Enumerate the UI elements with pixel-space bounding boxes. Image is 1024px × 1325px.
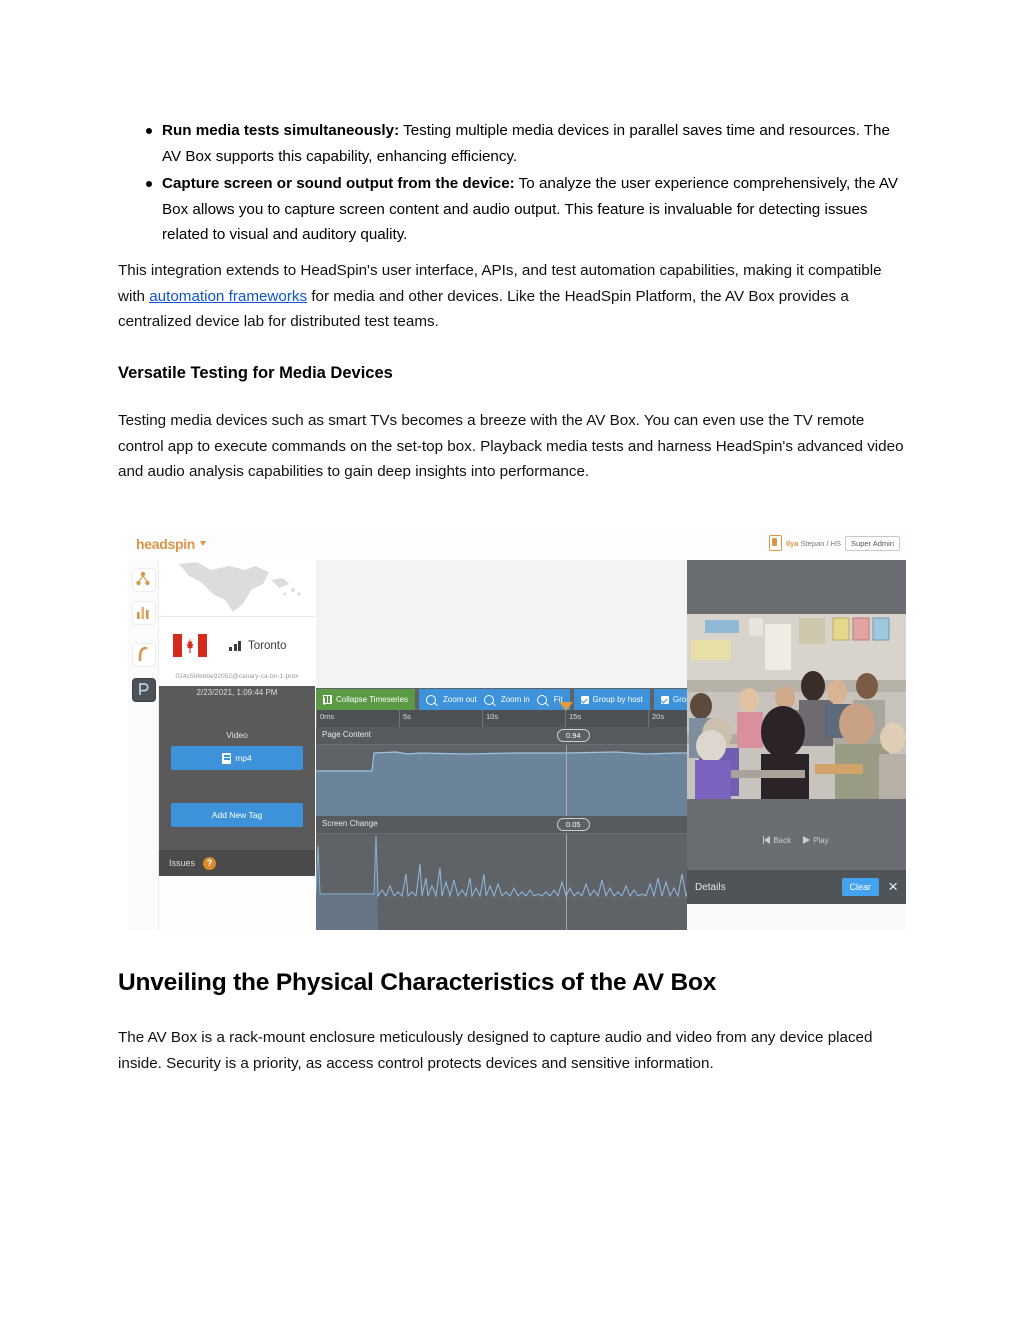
details-bar: Details Clear × [687, 870, 906, 904]
back-label: Back [773, 836, 791, 845]
video-frame[interactable] [687, 614, 906, 799]
page-title: Unveiling the Physical Characteristics o… [118, 968, 908, 998]
performance-icon[interactable] [132, 678, 156, 702]
sidebar-footer [159, 876, 315, 930]
user-avatar-icon [769, 535, 782, 551]
waterfall-icon[interactable] [132, 643, 156, 667]
timeline-cursor [566, 745, 567, 817]
video-controls: Back Play [687, 830, 906, 850]
play-label: Play [813, 836, 829, 845]
bullet-lead: Run media tests simultaneously: [162, 122, 399, 139]
maple-leaf-icon [186, 638, 194, 653]
device-sidebar: Toronto 024c5bfebbe92052@canary-ca-tor-1… [159, 560, 315, 930]
axis-tick: 20s [648, 710, 664, 727]
paragraph-three: The AV Box is a rack-mount enclosure met… [118, 1025, 908, 1076]
session-timestamp: 2/23/2021, 1:09:44 PM [159, 688, 315, 697]
playhead-marker-icon[interactable] [559, 702, 573, 711]
axis-tick: 0ms [316, 710, 334, 727]
paragraph-one-wrap: This integration extends to HeadSpin's u… [118, 258, 908, 335]
user-area[interactable]: Ilya Stepan / HS Super Admin [769, 535, 900, 551]
icon-rail [128, 560, 159, 930]
track-value-pill: 0.05 [557, 818, 590, 831]
clear-button[interactable]: Clear [842, 878, 880, 896]
video-panel: Back Play Details Clear × [813, 560, 906, 930]
headspin-logo[interactable]: headspin [136, 536, 195, 552]
axis-tick: 5s [399, 710, 411, 727]
video-section-label: Video [159, 730, 315, 740]
checkbox-icon [661, 696, 669, 704]
skip-back-icon [764, 836, 770, 844]
track-name: Page Content [322, 730, 371, 739]
track-value-pill: 0.94 [557, 729, 590, 742]
back-button[interactable]: Back [764, 836, 791, 845]
bullet-list-section: Run media tests simultaneously: Testing … [118, 118, 908, 250]
warning-badge-icon: ? [203, 857, 216, 870]
add-new-tag-button[interactable]: Add New Tag [171, 803, 303, 827]
device-id-label: 024c5bfebbe92052@canary-ca-tor-1-prox [159, 668, 315, 686]
issues-row[interactable]: Issues ? [159, 850, 315, 876]
subheading-wrap: Versatile Testing for Media Devices [118, 362, 908, 384]
magnifier-fit-icon [537, 695, 547, 705]
play-icon [803, 836, 810, 844]
zoom-group[interactable]: Zoom out Zoom in Fit [419, 689, 570, 710]
file-download-icon [222, 753, 231, 764]
magnifier-plus-icon [484, 695, 494, 705]
zoom-in-label: Zoom in [501, 695, 530, 704]
download-mp4-button[interactable]: mp4 [171, 746, 303, 770]
magnifier-minus-icon [426, 695, 436, 705]
city-label: Toronto [248, 640, 286, 652]
paragraph-three-wrap: The AV Box is a rack-mount enclosure met… [118, 1025, 908, 1076]
document-page: Run media tests simultaneously: Testing … [0, 0, 1024, 1325]
video-player: Back Play Details Clear × [687, 560, 906, 930]
checkbox-icon [581, 696, 589, 704]
bar-chart-icon[interactable] [132, 601, 156, 625]
collapse-timeseries-label: Collapse Timeseries [336, 695, 408, 704]
grid-icon [323, 695, 332, 704]
chevron-down-icon[interactable] [200, 541, 206, 546]
location-map[interactable] [159, 560, 315, 617]
paragraph-one: This integration extends to HeadSpin's u… [118, 258, 908, 335]
bullet-lead: Capture screen or sound output from the … [162, 175, 515, 192]
role-badge[interactable]: Super Admin [845, 536, 900, 551]
paragraph-two-wrap: Testing media devices such as smart TVs … [118, 408, 908, 485]
zoom-out-label: Zoom out [443, 695, 477, 704]
close-icon[interactable]: × [888, 880, 898, 894]
bullet-list: Run media tests simultaneously: Testing … [118, 118, 908, 248]
subheading: Versatile Testing for Media Devices [118, 362, 908, 384]
collapse-timeseries-button[interactable]: Collapse Timeseries [316, 689, 415, 710]
app-topbar: headspin Ilya Stepan / HS Super Admin [128, 530, 906, 561]
timeline-cursor [566, 834, 567, 930]
user-name-label: Ilya Stepan / HS [786, 539, 841, 548]
issues-label: Issues [169, 858, 195, 868]
play-button[interactable]: Play [803, 836, 829, 845]
embedded-app-screenshot: headspin Ilya Stepan / HS Super Admin [128, 530, 906, 930]
user-first-name: Ilya [786, 539, 799, 548]
details-label: Details [695, 882, 726, 893]
group-by-host-label: Group by host [593, 695, 643, 704]
panel-footer [687, 904, 906, 930]
axis-tick: 10s [482, 710, 498, 727]
signal-strength-icon [229, 641, 241, 651]
track-name: Screen Change [322, 819, 378, 828]
list-item: Capture screen or sound output from the … [118, 171, 908, 248]
group-by-host-button[interactable]: Group by host [574, 689, 650, 710]
location-row: Toronto [159, 617, 315, 674]
list-item: Run media tests simultaneously: Testing … [118, 118, 908, 169]
network-topology-icon[interactable] [132, 568, 156, 592]
user-detail: Stepan / HS [799, 539, 842, 548]
main-heading-wrap: Unveiling the Physical Characteristics o… [118, 968, 908, 998]
automation-frameworks-link[interactable]: automation frameworks [149, 288, 307, 305]
axis-tick: 15s [565, 710, 581, 727]
mp4-label: mp4 [235, 753, 252, 763]
add-tag-label: Add New Tag [212, 810, 262, 820]
paragraph-two: Testing media devices such as smart TVs … [118, 408, 908, 485]
canada-flag-icon [173, 634, 207, 657]
